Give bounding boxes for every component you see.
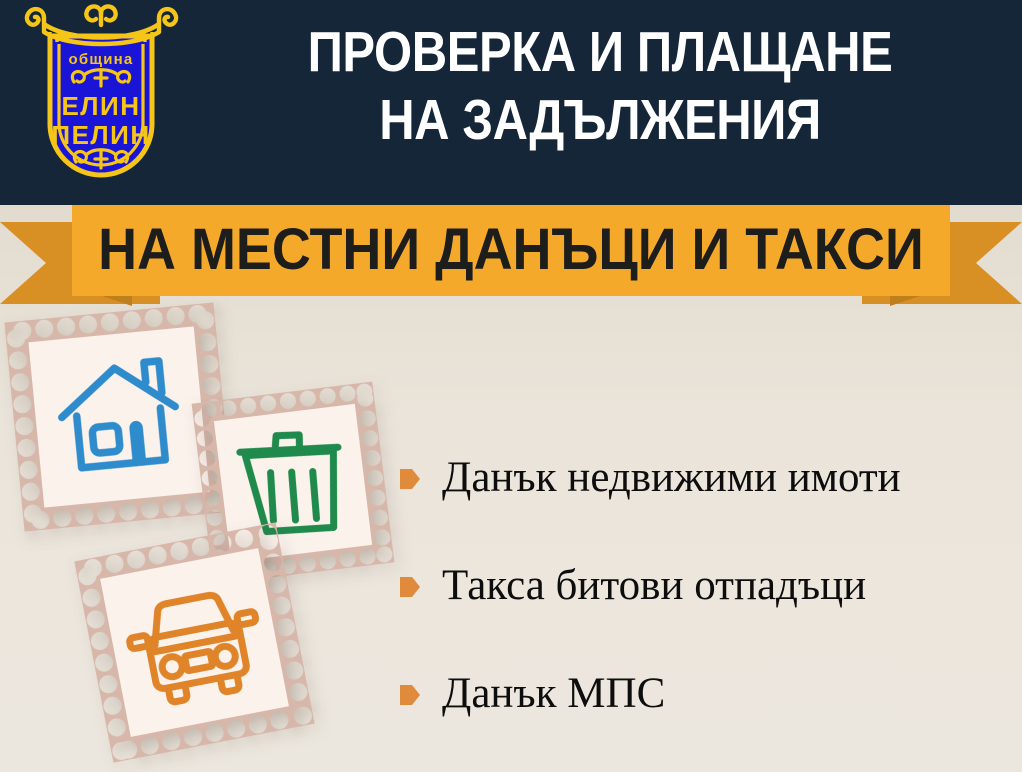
logo-text-pelin: ПЕЛИН [51, 120, 150, 150]
car-front-stamp-icon [74, 522, 314, 762]
stamp-card-vehicle-tax [74, 522, 314, 762]
arrow-bullet-icon [400, 683, 420, 707]
page-title: ПРОВЕРКА И ПЛАЩАНЕ НА ЗАДЪЛЖЕНИЯ [243, 18, 957, 154]
poster-root: ПРОВЕРКА И ПЛАЩАНЕ НА ЗАДЪЛЖЕНИЯ община [0, 0, 1022, 772]
list-item-label: Такса битови отпадъци [442, 562, 866, 610]
ribbon-body: НА МЕСТНИ ДАНЪЦИ И ТАКСИ [72, 204, 950, 296]
list-item-label: Данък МПС [442, 670, 665, 718]
coat-of-arms-icon: община ЕЛИН ПЕЛИН [14, 2, 189, 197]
list-item-label: Данък недвижими имоти [442, 454, 901, 502]
ribbon-banner: НА МЕСТНИ ДАНЪЦИ И ТАКСИ [0, 200, 1022, 312]
logo-text-elin: ЕЛИН [61, 91, 140, 121]
arrow-bullet-icon [400, 575, 420, 599]
ribbon-subtitle: НА МЕСТНИ ДАНЪЦИ И ТАКСИ [98, 221, 924, 279]
list-item[interactable]: Данък МПС [400, 640, 1010, 748]
arrow-bullet-icon [400, 467, 420, 491]
logo-text-obshtina: община [69, 51, 134, 68]
municipality-logo: община ЕЛИН ПЕЛИН [14, 2, 189, 197]
list-item[interactable]: Данък недвижими имоти [400, 424, 1010, 532]
tax-type-list: Данък недвижими имоти Такса битови отпад… [400, 424, 1010, 748]
list-item[interactable]: Такса битови отпадъци [400, 532, 1010, 640]
